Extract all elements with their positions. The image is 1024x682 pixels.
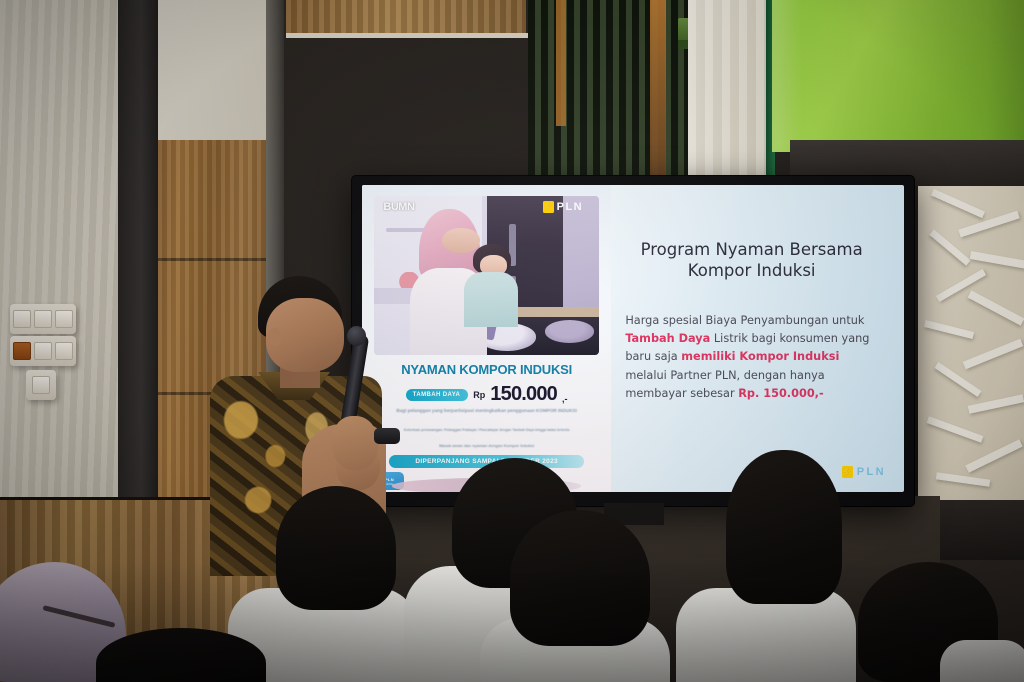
- wristwatch: [374, 428, 400, 444]
- body-highlight-1: Tambah Daya: [625, 332, 710, 345]
- bumn-logo: BUMN UNTUK INDONESIA: [383, 201, 446, 213]
- poster-price-row: TAMBAH DAYA Rp 150.000 ,-: [379, 383, 593, 406]
- switch-rocker[interactable]: [32, 376, 50, 393]
- slide-title: Program Nyaman Bersama Kompor Induksi: [625, 239, 878, 282]
- pln-wordmark-slide: PLN: [857, 466, 886, 478]
- presentation-slide: BUMN UNTUK INDONESIA ⚡ PLN NYAMAN KOMPOR…: [362, 185, 904, 492]
- light-switch-single[interactable]: [26, 370, 56, 400]
- dark-column: [118, 0, 160, 520]
- audience-head: [276, 486, 396, 610]
- switch-rocker[interactable]: [34, 310, 52, 328]
- audience-head: [510, 510, 650, 646]
- slide-text-panel: Program Nyaman Bersama Kompor Induksi Ha…: [611, 185, 904, 492]
- wood-accent-right: [650, 0, 666, 186]
- poster-fineprint-3: Masak aman dan nyaman dengan Kompor Indu…: [362, 443, 611, 448]
- slide-body-text: Harga spesial Biaya Penyambungan untuk T…: [625, 312, 878, 403]
- body-segment-1: Harga spesial Biaya Penyambungan untuk: [625, 314, 864, 327]
- body-highlight-2: memiliki Kompor Induksi: [681, 350, 839, 363]
- body-highlight-3: Rp. 150.000,-: [738, 387, 823, 400]
- green-curtain: [772, 0, 1024, 152]
- light-switch-plate-top[interactable]: [10, 304, 76, 334]
- tambah-daya-badge: TAMBAH DAYA: [406, 389, 469, 401]
- child-body: [464, 272, 518, 326]
- upper-cream-panel: [158, 0, 268, 146]
- wood-band-edge: [286, 33, 528, 38]
- woman-face: [442, 228, 480, 254]
- switch-rocker[interactable]: [55, 310, 73, 328]
- slide-poster: BUMN UNTUK INDONESIA ⚡ PLN NYAMAN KOMPOR…: [362, 185, 611, 492]
- bolt-glyph: ⚡: [543, 202, 554, 211]
- wood-ceiling-band: [286, 0, 526, 36]
- textured-wall-panel: [918, 186, 1024, 504]
- price-suffix: ,-: [562, 394, 568, 406]
- cooking-pan-second: [545, 320, 594, 342]
- slide-title-line-2: Kompor Induksi: [625, 260, 878, 281]
- price-value: 150.000: [490, 383, 557, 406]
- slide-title-line-1: Program Nyaman Bersama: [625, 239, 878, 260]
- pale-wall-strip: [688, 0, 772, 182]
- switch-rocker[interactable]: [13, 310, 31, 328]
- photo-scene: BUMN UNTUK INDONESIA ⚡ PLN NYAMAN KOMPOR…: [0, 0, 1024, 682]
- pln-logo-slide-footer: ⚡ PLN: [842, 466, 886, 478]
- poster-photograph: BUMN UNTUK INDONESIA ⚡ PLN: [374, 196, 598, 356]
- switch-rocker[interactable]: [34, 342, 52, 360]
- pln-logo-poster: ⚡ PLN: [543, 201, 584, 213]
- tv-bezel: BUMN UNTUK INDONESIA ⚡ PLN NYAMAN KOMPOR…: [362, 185, 904, 492]
- left-cream-wall: [0, 0, 124, 520]
- audience-shirt: [940, 640, 1024, 682]
- kitchen-right-wall: [563, 196, 599, 311]
- switch-rocker-on[interactable]: [13, 342, 31, 360]
- bumn-wordmark: BUMN: [383, 201, 414, 213]
- presenter-ear: [268, 328, 282, 346]
- bolt-glyph: ⚡: [842, 468, 853, 477]
- lightning-bolt-icon: ⚡: [543, 201, 554, 213]
- wood-accent-left: [556, 0, 566, 126]
- wall-mounted-tv: BUMN UNTUK INDONESIA ⚡ PLN NYAMAN KOMPOR…: [352, 176, 914, 506]
- pln-wordmark-poster: PLN: [557, 201, 584, 213]
- poster-headline: NYAMAN KOMPOR INDUKSI: [362, 362, 611, 377]
- audience-head: [726, 450, 842, 604]
- bumn-tagline: UNTUK INDONESIA: [417, 205, 446, 209]
- switch-rocker[interactable]: [55, 342, 73, 360]
- presenter-hand-left: [332, 416, 378, 470]
- currency-label: Rp: [473, 390, 485, 400]
- poster-fineprint-1: Bagi pelanggan yang berpartisipasi menin…: [362, 408, 611, 415]
- lightning-bolt-icon: ⚡: [842, 466, 853, 478]
- light-switch-plate-middle[interactable]: [10, 336, 76, 366]
